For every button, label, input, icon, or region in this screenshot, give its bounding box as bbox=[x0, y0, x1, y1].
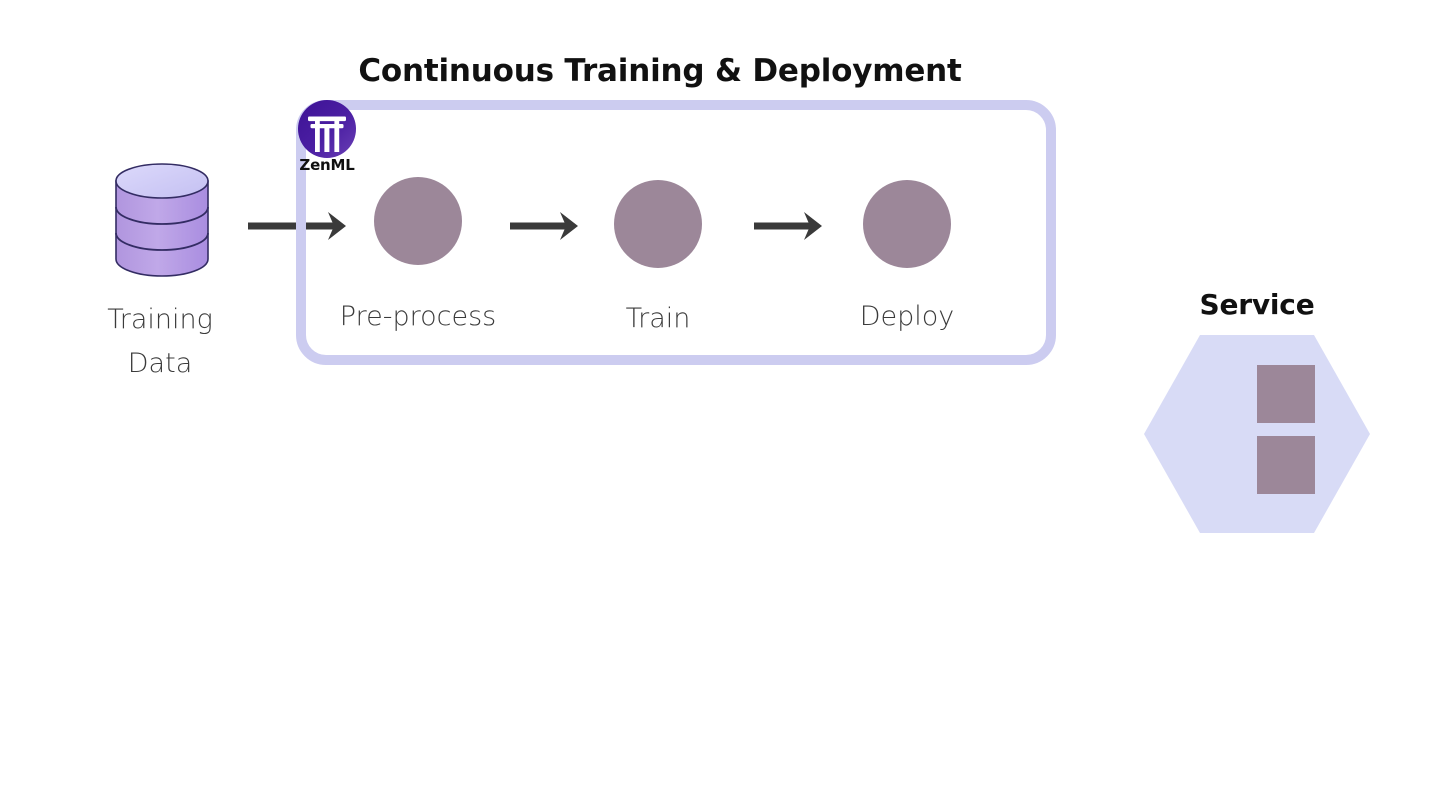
database-cylinder-icon bbox=[112, 163, 212, 278]
training-data-label: Training Data bbox=[62, 298, 258, 386]
zenml-torii-icon bbox=[297, 99, 357, 159]
training-data-label-line2: Data bbox=[62, 342, 258, 386]
zenml-wordmark: ZenML bbox=[293, 156, 361, 174]
service-group: Service bbox=[1143, 288, 1371, 538]
pipeline-step-label-deploy: Deploy bbox=[787, 301, 1027, 332]
pipeline-step-node-deploy[interactable] bbox=[863, 180, 951, 268]
arrow-train-to-deploy-icon bbox=[752, 206, 826, 246]
pipeline-step-label-train: Train bbox=[538, 303, 778, 334]
training-data-label-line1: Training bbox=[62, 298, 258, 342]
pipeline-step-node-preprocess[interactable] bbox=[374, 177, 462, 265]
arrow-preprocess-to-train-icon bbox=[508, 206, 582, 246]
page-title: Continuous Training & Deployment bbox=[0, 53, 1320, 89]
zenml-logo: ZenML bbox=[293, 99, 361, 181]
service-block-top bbox=[1257, 365, 1315, 423]
pipeline-step-label-preprocess: Pre-process bbox=[288, 301, 548, 332]
pipeline-step-node-train[interactable] bbox=[614, 180, 702, 268]
service-title: Service bbox=[1143, 288, 1371, 321]
service-block-bottom bbox=[1257, 436, 1315, 494]
